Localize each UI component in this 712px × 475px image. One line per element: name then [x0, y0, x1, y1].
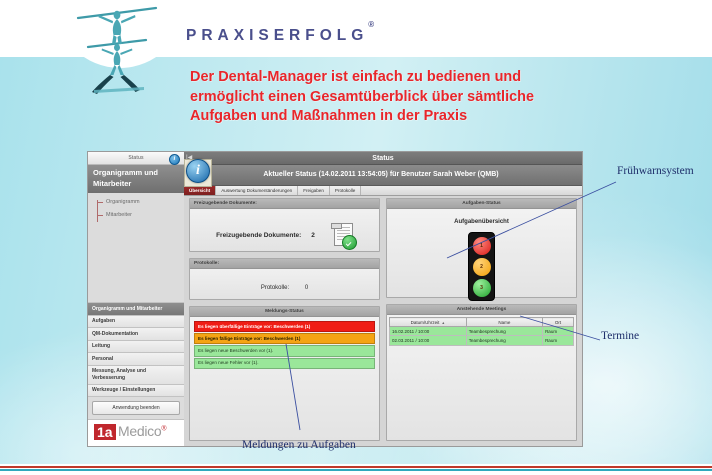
- column-header-ort[interactable]: Ort: [543, 318, 574, 327]
- annotation-termine: Termine: [601, 330, 639, 342]
- statusbar-text: Aktueller Status (14.02.2011 13:54:05) f…: [184, 171, 578, 178]
- app-content: I◀ Status i Aktueller Status (14.02.2011…: [184, 152, 582, 446]
- protocols-value: 0: [305, 285, 308, 291]
- sidebar-item-messung-analyse[interactable]: Messung, Analyse und Verbesserung: [88, 365, 184, 384]
- panel-meetings: Anstehende Meetings Datum/Uhrzeit▲ Name …: [386, 304, 577, 441]
- slide: PRAXISERFOLG® Der Dental-Manager ist ein…: [0, 0, 712, 475]
- vendor-trademark: ®: [161, 425, 166, 432]
- meetings-table-header-row: Datum/Uhrzeit▲ Name Ort: [390, 318, 574, 327]
- table-row[interactable]: 16.02.2011 / 10:00 Teambesprechung Raum: [390, 327, 574, 336]
- panel-tasks-body: Aufgabenübersicht 1 2 3: [387, 209, 576, 305]
- panel-protocols-body: Protokolle: 0: [190, 269, 379, 299]
- panel-messages-body: Es liegen überfällige Einträge vor: Besc…: [190, 317, 379, 440]
- sidebar-tree-item-organigramm[interactable]: Organigramm: [98, 199, 184, 212]
- traffic-light-lamp-green: 3: [473, 279, 491, 297]
- registered-mark: ®: [368, 20, 374, 29]
- acrobat-balance-figure-icon: [72, 4, 162, 99]
- app-sidebar: Status i Organigramm und Mitarbeiter Org…: [88, 152, 185, 446]
- application-screenshot: Status i Organigramm und Mitarbeiter Org…: [87, 151, 583, 447]
- panel-messages-header: Meldungs-Status: [190, 307, 379, 317]
- sort-caret-icon: ▲: [441, 321, 445, 325]
- panels-area: Freizugebende Dokumente: Freizugebende D…: [184, 193, 582, 446]
- panel-meetings-body: Datum/Uhrzeit▲ Name Ort 16.02.2011 / 10:…: [387, 315, 576, 440]
- brand-name: PRAXISERFOLG: [186, 27, 368, 44]
- footer-stripe-teal: [0, 469, 712, 471]
- cell-ort: Raum: [543, 327, 574, 336]
- cell-ort: Raum: [543, 336, 574, 345]
- vendor-logo: 1a Medico®: [88, 419, 184, 446]
- protocols-row: Protokolle: 0: [194, 273, 375, 291]
- slide-headline: Der Dental-Manager ist einfach zu bedien…: [190, 68, 590, 127]
- sidebar-tree: Organigramm Mitarbeiter: [88, 193, 184, 239]
- documents-value: 2: [311, 232, 315, 239]
- sidebar-item-qm-dokumentation[interactable]: QM-Dokumentation: [88, 327, 184, 340]
- info-icon[interactable]: i: [169, 154, 180, 165]
- message-list: Es liegen überfällige Einträge vor: Besc…: [192, 319, 377, 372]
- column-header-datum[interactable]: Datum/Uhrzeit▲: [390, 318, 467, 327]
- sidebar-item-organigramm-mitarbeiter[interactable]: Organigramm und Mitarbeiter: [88, 302, 184, 315]
- table-row[interactable]: 02.03.2011 / 10:00 Teambesprechung Raum: [390, 336, 574, 345]
- app-toolbar: I◀ Status: [184, 152, 582, 165]
- annotation-fruehwarnsystem: Frühwarnsystem: [617, 165, 694, 177]
- annotation-meldungen: Meldungen zu Aufgaben: [242, 439, 356, 451]
- sidebar-header: Status i: [88, 152, 184, 165]
- panel-documents: Freizugebende Dokumente: Freizugebende D…: [189, 198, 380, 252]
- message-item-overdue[interactable]: Es liegen überfällige Einträge vor: Besc…: [194, 321, 375, 332]
- sidebar-section-title: Organigramm und Mitarbeiter: [88, 165, 184, 193]
- cell-datum: 16.02.2011 / 10:00: [390, 327, 467, 336]
- sidebar-item-personal[interactable]: Personal: [88, 352, 184, 365]
- document-stack-icon: [331, 223, 353, 247]
- panel-documents-header: Freizugebende Dokumente:: [190, 199, 379, 209]
- message-item-due[interactable]: Es liegen fällige Einträge vor: Beschwer…: [194, 333, 375, 344]
- quit-area: Anwendung beenden: [88, 396, 184, 419]
- sidebar-tree-item-mitarbeiter[interactable]: Mitarbeiter: [98, 212, 184, 225]
- panel-protocols-header: Protokolle:: [190, 259, 379, 269]
- panel-messages: Meldungs-Status Es liegen überfällige Ei…: [189, 306, 380, 441]
- vendor-logo-mark: 1a: [94, 424, 116, 440]
- panels-right-column: Aufgaben-Status Aufgabenübersicht 1 2 3 …: [386, 198, 577, 441]
- panel-tasks-header: Aufgaben-Status: [387, 199, 576, 209]
- sidebar-item-aufgaben[interactable]: Aufgaben: [88, 315, 184, 328]
- vendor-logo-word: Medico®: [118, 423, 166, 439]
- brand-wordmark: PRAXISERFOLG®: [186, 27, 374, 45]
- sidebar-item-leitung[interactable]: Leitung: [88, 340, 184, 353]
- traffic-light-icon[interactable]: 1 2 3: [468, 232, 495, 301]
- toolbar-title: Status: [184, 155, 582, 162]
- panel-meetings-header: Anstehende Meetings: [387, 305, 576, 315]
- meetings-table: Datum/Uhrzeit▲ Name Ort 16.02.2011 / 10:…: [389, 317, 574, 346]
- panels-left-column: Freizugebende Dokumente: Freizugebende D…: [189, 198, 380, 441]
- panel-protocols: Protokolle: Protokolle: 0: [189, 258, 380, 300]
- traffic-light-lamp-yellow: 2: [473, 258, 491, 276]
- column-header-name[interactable]: Name: [466, 318, 542, 327]
- cell-datum: 02.03.2011 / 10:00: [390, 336, 467, 345]
- documents-row: Freizugebende Dokumente: 2: [194, 213, 375, 247]
- traffic-light-lamp-red: 1: [473, 237, 491, 255]
- tasks-overview-title: Aufgabenübersicht: [391, 219, 572, 225]
- message-item-new-errors[interactable]: Es liegen neue Fehler vor (1).: [194, 358, 375, 369]
- green-check-icon: [342, 235, 357, 250]
- quit-application-button[interactable]: Anwendung beenden: [92, 401, 180, 415]
- panel-tasks: Aufgaben-Status Aufgabenübersicht 1 2 3: [386, 198, 577, 298]
- documents-label: Freizugebende Dokumente:: [216, 232, 301, 239]
- footer-stripe-red: [0, 466, 712, 468]
- panel-documents-body: Freizugebende Dokumente: 2: [190, 209, 379, 251]
- cell-name: Teambesprechung: [466, 327, 542, 336]
- app-statusbar: i Aktueller Status (14.02.2011 13:54:05)…: [184, 165, 582, 186]
- protocols-label: Protokolle:: [261, 285, 289, 291]
- sidebar-item-werkzeuge-einstellungen[interactable]: Werkzeuge / Einstellungen: [88, 384, 184, 397]
- message-item-new-complaints[interactable]: Es liegen neue Beschwerden vor (1).: [194, 345, 375, 356]
- sidebar-menu: Organigramm und Mitarbeiter Aufgaben QM-…: [88, 302, 184, 446]
- cell-name: Teambesprechung: [466, 336, 542, 345]
